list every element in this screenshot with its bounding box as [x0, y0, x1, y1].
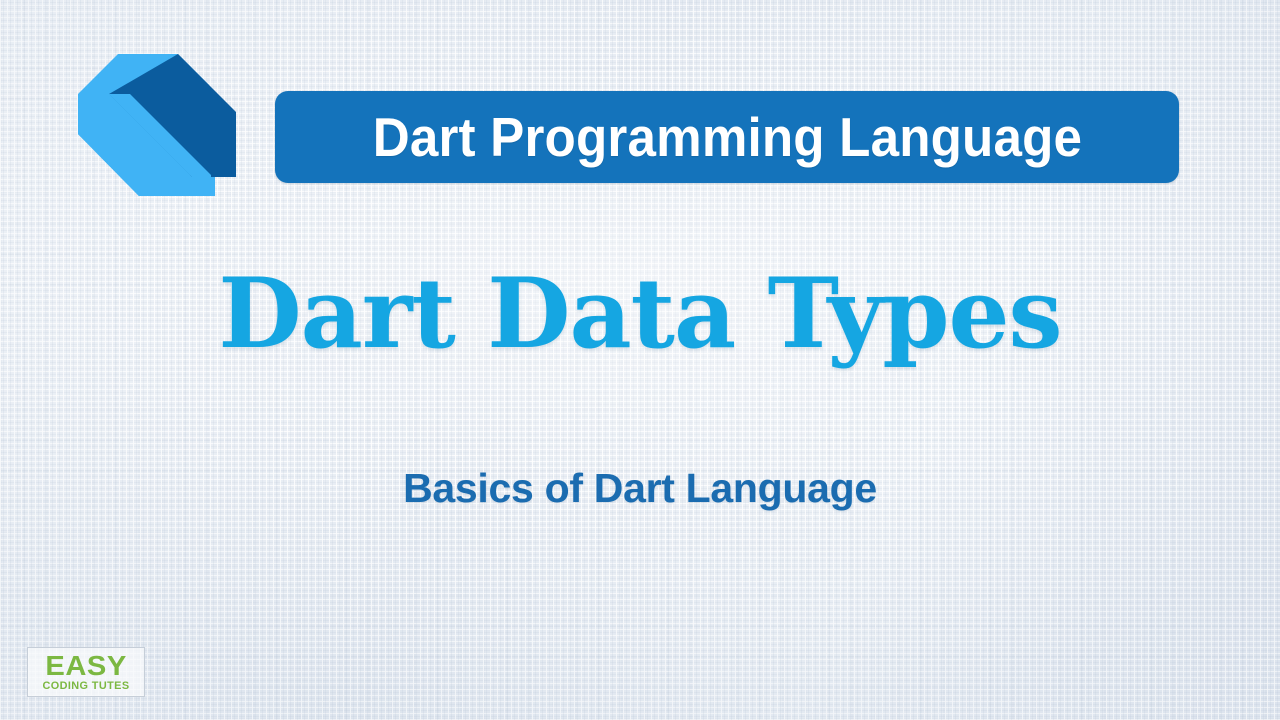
page-title: Dart Data Types [0, 262, 1280, 366]
watermark-primary-text: EASY [45, 653, 126, 680]
dart-logo-icon [78, 54, 252, 210]
title-banner: Dart Programming Language [275, 91, 1179, 183]
page-subtitle: Basics of Dart Language [0, 466, 1280, 511]
header-row: Dart Programming Language [0, 0, 1280, 230]
watermark-logo: EASY CODING TUTES [27, 647, 145, 697]
title-banner-label: Dart Programming Language [372, 110, 1081, 165]
watermark-secondary-text: CODING TUTES [42, 680, 129, 692]
slide-canvas: Dart Programming Language Dart Data Type… [0, 0, 1280, 720]
